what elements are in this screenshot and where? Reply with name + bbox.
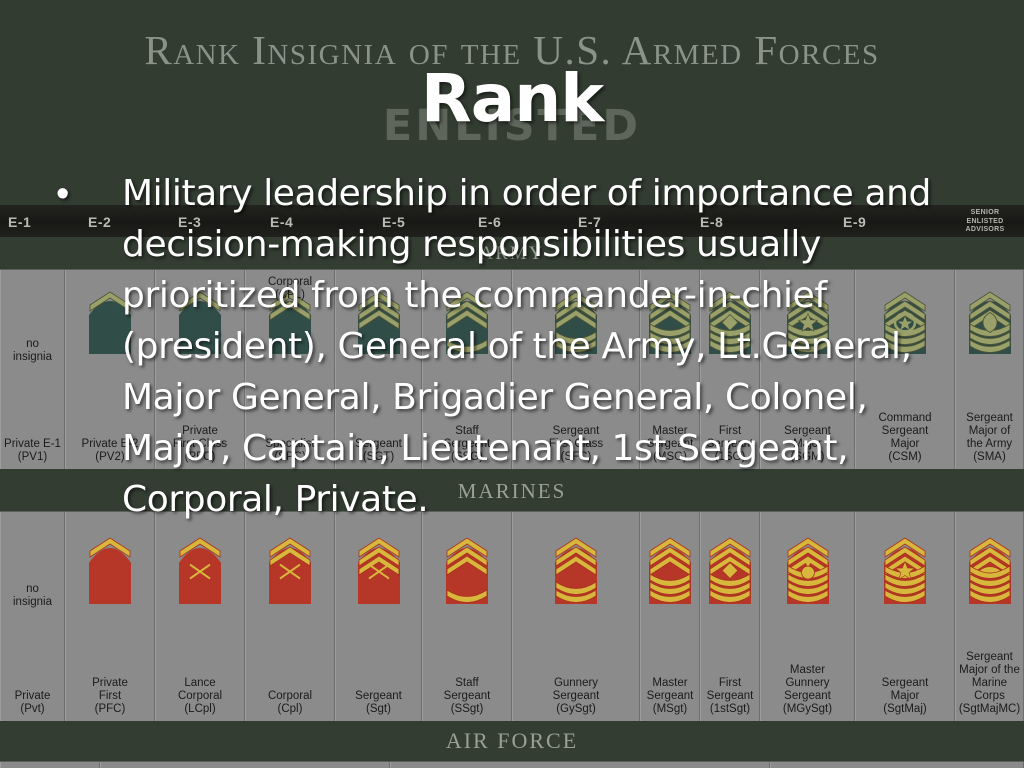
insignia-cell-sergeant: Sergeant (Sgt) (335, 512, 422, 722)
insignia-graphic-chevron-1-crossrifles (173, 530, 227, 613)
insignia-cell-staff-sergeant: Staff Sergeant (SSgt) (422, 512, 512, 722)
insignia-rank-label: Corporal (Cpl) (246, 690, 334, 716)
insignia-rank-label: Staff Sergeant (SSgt) (423, 677, 511, 716)
insignia-cell-no insignia: no insigniaPrivate (Pvt) (0, 512, 65, 722)
insignia-rank-label: Gunnery Sergeant (GySgt) (513, 677, 639, 716)
insignia-rank-label: Private (Pvt) (1, 690, 64, 716)
bullet-list: • Military leadership in order of import… (56, 168, 956, 525)
insignia-cell-lance-corporal: Lance Corporal (LCpl) (155, 512, 245, 722)
insignia-rank-label: Sergeant (Sgt) (336, 690, 421, 716)
insignia-graphic-chevron-3-rocker-2 (549, 530, 603, 613)
bullet-item-text: Military leadership in order of importan… (122, 168, 956, 525)
insignia-cell-sergeant-major-of-the-army: Sergeant Major of the Army (SMA) (955, 270, 1024, 470)
page-title: Rank (0, 60, 1024, 137)
insignia-graphic-chevron-3-rocker-3-diamond (703, 530, 757, 613)
insignia-cell-sergeant-major: Sergeant Major (SgtMaj) (855, 512, 955, 722)
marines-insignia-row: no insigniaPrivate (Pvt)Private First (P… (0, 511, 1024, 723)
no-insignia-label: no insignia (1, 583, 64, 609)
insignia-cell-master-sergeant: Master Sergeant (MSgt) (640, 512, 700, 722)
insignia-rank-label: Lance Corporal (LCpl) (156, 677, 244, 716)
insignia-rank-label: Master Sergeant (MSgt) (641, 677, 699, 716)
insignia-rank-label: Sergeant Major of the Army (SMA) (956, 412, 1023, 464)
insignia-graphic-chevron-3-rocker-4-bursting-bomb (781, 530, 835, 613)
slide-canvas: Rank Insignia of the U.S. Armed Forces E… (0, 0, 1024, 768)
insignia-rank-label: Private E-1 (PV1) (1, 438, 64, 464)
insignia-rank-label: Master Gunnery Sergeant (MGySgt) (761, 664, 854, 716)
insignia-cell-gunnery-sergeant: Gunnery Sergeant (GySgt) (512, 512, 640, 722)
insignia-graphic-chevron-3-rocker-4-star (878, 530, 932, 613)
insignia-graphic-chevron-3-rocker-3 (643, 530, 697, 613)
insignia-cell-sergeant-major-of-the-marine-corps: Sergeant Major of the Marine Corps (SgtM… (955, 512, 1024, 722)
insignia-graphic-chevron-3-rocker-4-eagle (963, 530, 1017, 613)
service-band-air-force: AIR FORCE (0, 721, 1024, 761)
insignia-cell-master-gunnery-sergeant: Master Gunnery Sergeant (MGySgt) (760, 512, 855, 722)
bullet-marker: • (56, 168, 122, 525)
insignia-rank-label: Sergeant Major of the Marine Corps (SgtM… (956, 651, 1023, 716)
insignia-graphic-chevron-3-rocker-1 (440, 530, 494, 613)
no-insignia-label: no insignia (1, 338, 64, 364)
insignia-graphic-chevron-3-rocker-3-crest (963, 284, 1017, 363)
insignia-graphic-chevron-2-crossrifles (263, 530, 317, 613)
air-force-insignia-row-partial (0, 761, 1024, 768)
insignia-cell-corporal: Corporal (Cpl) (245, 512, 335, 722)
insignia-graphic-chevron-1 (83, 530, 137, 613)
senior-enlisted-advisors-label: SENIOR ENLISTED ADVISORS (954, 209, 1016, 235)
insignia-cell-first-sergeant: First Sergeant (1stSgt) (700, 512, 760, 722)
insignia-cell-private-first-class: Private First (PFC) (65, 512, 155, 722)
insignia-rank-label: First Sergeant (1stSgt) (701, 677, 759, 716)
insignia-graphic-chevron-3-crossrifles (352, 530, 406, 613)
insignia-rank-label: Sergeant Major (SgtMaj) (856, 677, 954, 716)
grade-label-e1: E-1 (8, 214, 31, 230)
insignia-rank-label: Private First (PFC) (66, 677, 154, 716)
